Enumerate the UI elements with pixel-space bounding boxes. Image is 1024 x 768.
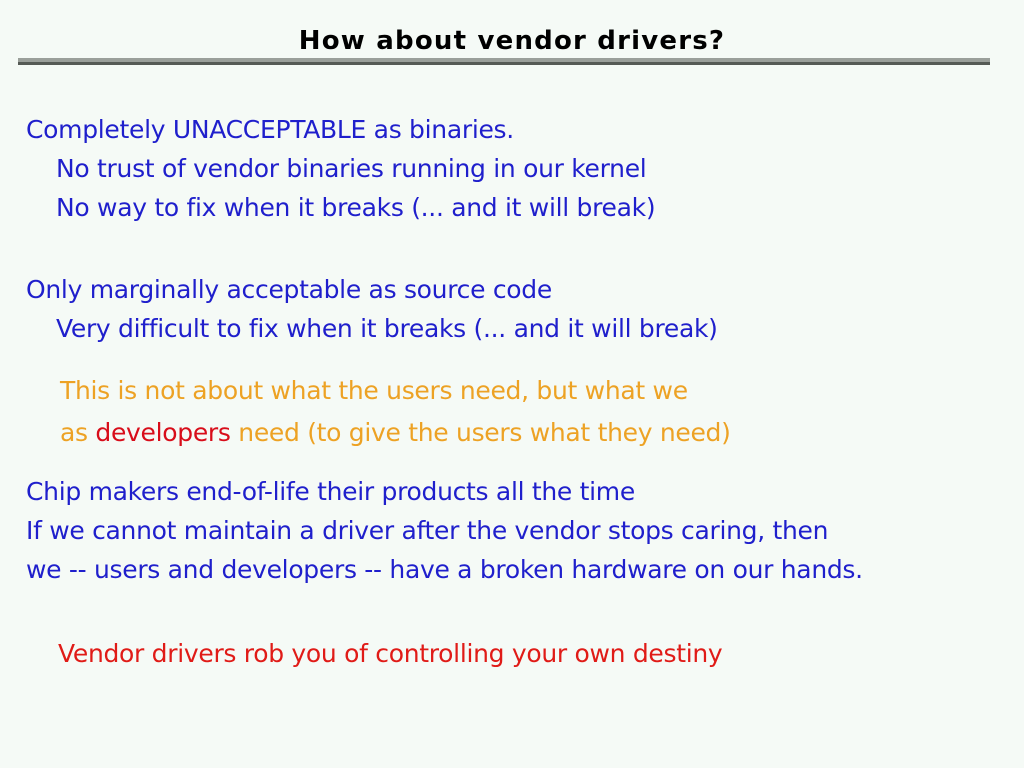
text-block-destiny: Vendor drivers rob you of controlling yo…: [58, 634, 722, 673]
line-very-difficult: Very difficult to fix when it breaks (..…: [26, 309, 718, 348]
text-block-chip-makers: Chip makers end-of-life their products a…: [26, 472, 863, 589]
line-as-developers-need: as developers need (to give the users wh…: [60, 412, 731, 454]
line-not-about-users: This is not about what the users need, b…: [60, 370, 731, 412]
slide-title: How about vendor drivers?: [0, 26, 1024, 56]
developers-suffix: need (to give the users what they need): [231, 418, 731, 447]
line-cannot-maintain: If we cannot maintain a driver after the…: [26, 511, 863, 550]
slide-canvas: How about vendor drivers? Completely UNA…: [0, 0, 1024, 768]
line-no-way-to-fix: No way to fix when it breaks (... and it…: [26, 188, 655, 227]
line-marginally-acceptable: Only marginally acceptable as source cod…: [26, 270, 718, 309]
line-rob-destiny: Vendor drivers rob you of controlling yo…: [58, 634, 722, 673]
line-no-trust: No trust of vendor binaries running in o…: [26, 149, 655, 188]
developers-highlight: developers: [95, 418, 230, 447]
line-broken-hardware: we -- users and developers -- have a bro…: [26, 550, 863, 589]
line-chip-makers-eol: Chip makers end-of-life their products a…: [26, 472, 863, 511]
text-block-source-code: Only marginally acceptable as source cod…: [26, 270, 718, 348]
title-divider-rule: [18, 58, 990, 65]
text-block-unacceptable: Completely UNACCEPTABLE as binaries. No …: [26, 110, 655, 227]
text-block-developers-need: This is not about what the users need, b…: [60, 370, 731, 454]
developers-prefix: as: [60, 418, 95, 447]
line-unacceptable-heading: Completely UNACCEPTABLE as binaries.: [26, 110, 655, 149]
